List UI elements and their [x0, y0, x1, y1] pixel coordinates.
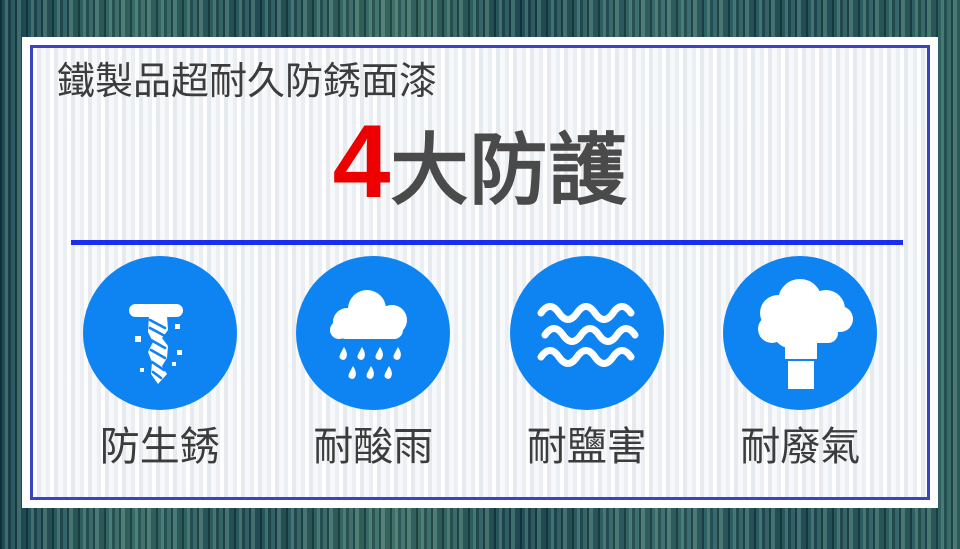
feature-label: 防生銹: [100, 424, 220, 470]
feature-icon-circle: [296, 256, 450, 410]
poster-card-inner: 鐵製品超耐久防銹面漆 4 大防護: [30, 45, 930, 500]
feature-icon-circle: [83, 256, 237, 410]
screw-nail-icon: [105, 278, 215, 388]
feature-item-salt-damage[interactable]: 耐鹽害: [492, 256, 682, 470]
feature-label: 耐廢氣: [740, 424, 860, 470]
product-subtitle: 鐵製品超耐久防銹面漆: [57, 58, 437, 106]
headline-text: 大防護: [390, 131, 627, 209]
smokestack-icon: [742, 275, 858, 391]
feature-list: 防生銹: [53, 256, 907, 496]
headline-divider: [71, 240, 903, 245]
poster-card-frame: 鐵製品超耐久防銹面漆 4 大防護: [22, 37, 938, 508]
sea-waves-icon: [531, 277, 643, 389]
headline: 4 大防護: [33, 110, 927, 214]
feature-icon-circle: [510, 256, 664, 410]
feature-item-anti-rust[interactable]: 防生銹: [65, 256, 255, 470]
feature-label: 耐酸雨: [313, 424, 433, 470]
poster-background: 鐵製品超耐久防銹面漆 4 大防護: [0, 0, 960, 549]
feature-item-exhaust-gas[interactable]: 耐廢氣: [705, 256, 895, 470]
headline-number: 4: [333, 110, 389, 214]
feature-label: 耐鹽害: [527, 424, 647, 470]
rain-cloud-icon: [317, 277, 429, 389]
feature-icon-circle: [723, 256, 877, 410]
feature-item-acid-rain[interactable]: 耐酸雨: [278, 256, 468, 470]
